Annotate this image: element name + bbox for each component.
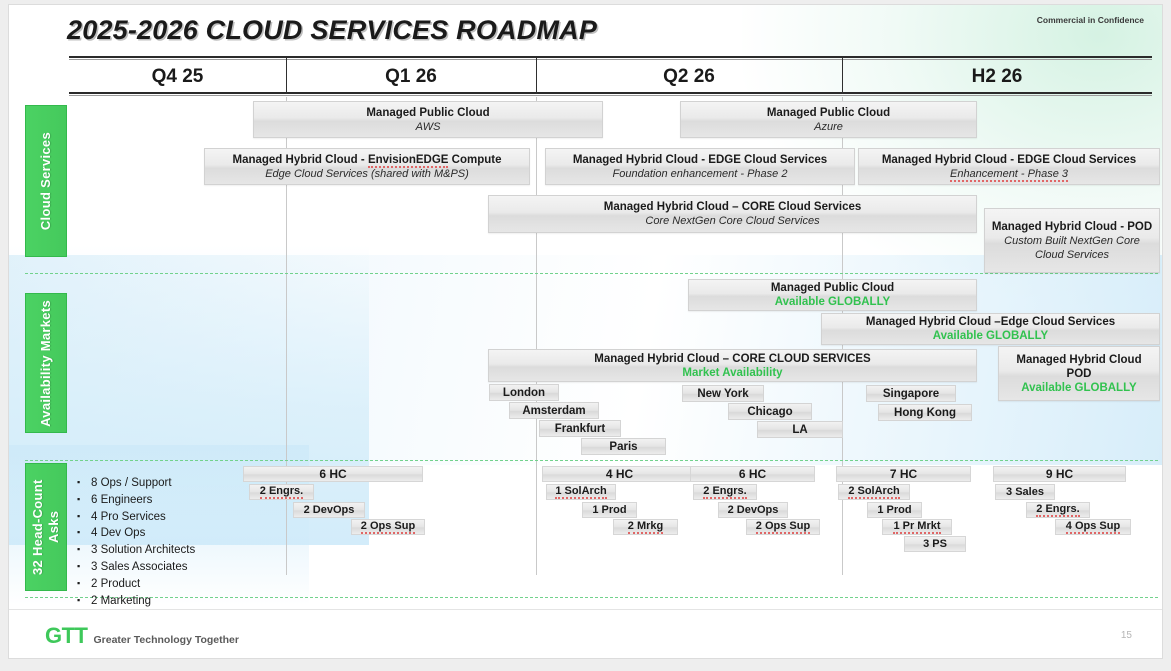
bar-subtitle-text: Enhancement - Phase 3: [950, 168, 1068, 182]
hc-role-devops-1[interactable]: 2 DevOps: [293, 502, 365, 518]
roadmap-bar-core-cloud-services[interactable]: Managed Hybrid Cloud – CORE Cloud Servic…: [488, 195, 977, 233]
market-chip-london[interactable]: London: [489, 384, 559, 401]
market-chip-hong-kong[interactable]: Hong Kong: [878, 404, 972, 421]
hc-total-group-4[interactable]: 7 HC: [836, 466, 971, 482]
hc-total-group-5[interactable]: 9 HC: [993, 466, 1126, 482]
bar-subtitle: Azure: [814, 120, 843, 134]
timeline-column-q1-26: Q1 26: [286, 63, 536, 91]
market-chip-paris[interactable]: Paris: [581, 438, 666, 455]
list-item: 4 Dev Ops: [77, 525, 195, 542]
hc-role-opssup-3[interactable]: 2 Ops Sup: [746, 519, 820, 535]
hc-total-group-3[interactable]: 6 HC: [690, 466, 815, 482]
list-item: 8 Ops / Support: [77, 475, 195, 492]
logo-mark: GTT: [45, 623, 88, 649]
swimlane-label-text: Cloud Services: [38, 132, 54, 230]
roadmap-bar-managed-hybrid-cloud-pod[interactable]: Managed Hybrid Cloud - POD Custom Built …: [984, 208, 1160, 273]
bar-status: Available GLOBALLY: [933, 329, 1048, 343]
hc-role-engrs-3[interactable]: 2 Engrs.: [693, 484, 757, 500]
header-separator-3: [842, 58, 843, 94]
swimlane-label-text: Availability Markets: [38, 300, 54, 427]
market-chip-la[interactable]: LA: [757, 421, 843, 438]
bar-title: Managed Hybrid CloudPOD: [1016, 353, 1141, 381]
bar-subtitle: Edge Cloud Services (shared with M&PS): [265, 167, 469, 181]
roadmap-bar-edge-cloud-services-phase-3[interactable]: Managed Hybrid Cloud - EDGE Cloud Servic…: [858, 148, 1160, 185]
header-rule-bottom: [69, 92, 1152, 96]
hc-role-label: 1 SolArch: [555, 485, 606, 499]
confidentiality-notice: Commercial in Confidence: [1037, 15, 1144, 25]
roadmap-bar-edge-cloud-services-phase-2[interactable]: Managed Hybrid Cloud - EDGE Cloud Servic…: [545, 148, 855, 185]
swimlane-divider-1: [25, 273, 1158, 274]
hc-role-label: 2 Engrs.: [260, 485, 303, 499]
timeline-column-q2-26: Q2 26: [536, 63, 842, 91]
hc-role-prmrkt-4[interactable]: 1 Pr Mrkt: [882, 519, 952, 535]
bar-title: Managed Hybrid Cloud - EDGE Cloud Servic…: [573, 153, 827, 167]
column-gridline-2: [536, 97, 537, 575]
hc-role-sales-5[interactable]: 3 Sales: [995, 484, 1055, 500]
list-item: 6 Engineers: [77, 492, 195, 509]
bar-status: Available GLOBALLY: [1021, 381, 1136, 395]
bar-subtitle: Core NextGen Core Cloud Services: [645, 214, 819, 228]
logo-tagline: Greater Technology Together: [94, 634, 239, 646]
bar-title: Managed Hybrid Cloud –Edge Cloud Service…: [866, 315, 1115, 329]
hc-role-ps-4[interactable]: 3 PS: [904, 536, 966, 552]
hc-role-engrs-5[interactable]: 2 Engrs.: [1026, 502, 1090, 518]
hc-role-label: 2 Engrs.: [703, 485, 746, 499]
roadmap-bar-managed-public-cloud-azure[interactable]: Managed Public Cloud Azure: [680, 101, 977, 138]
market-chip-new-york[interactable]: New York: [682, 385, 764, 402]
bar-title: Managed Hybrid Cloud - EnvisionEDGE Comp…: [232, 153, 501, 167]
roadmap-slide: 2025-2026 CLOUD SERVICES ROADMAP Commerc…: [8, 4, 1163, 659]
swimlane-label-availability-markets: Availability Markets: [25, 293, 67, 433]
footer-divider: [9, 609, 1163, 610]
bar-subtitle: Custom Built NextGen Core Cloud Services: [991, 234, 1153, 262]
hc-role-label: 2 SolArch: [848, 485, 899, 499]
list-item: 4 Pro Services: [77, 509, 195, 526]
hc-role-label: 2 Engrs.: [1036, 503, 1079, 517]
bar-title: Managed Public Cloud: [366, 106, 489, 120]
hc-role-label: 4 Ops Sup: [1066, 520, 1120, 534]
bar-title: Managed Hybrid Cloud - POD: [992, 220, 1152, 234]
market-chip-chicago[interactable]: Chicago: [728, 403, 812, 420]
list-item: 2 Product: [77, 576, 195, 593]
hc-role-devops-3[interactable]: 2 DevOps: [718, 502, 788, 518]
availability-bar-core-cloud-services[interactable]: Managed Hybrid Cloud – CORE CLOUD SERVIC…: [488, 349, 977, 382]
hc-total-group-1[interactable]: 6 HC: [243, 466, 423, 482]
availability-bar-edge-cloud-services[interactable]: Managed Hybrid Cloud –Edge Cloud Service…: [821, 313, 1160, 345]
page-number: 15: [1121, 630, 1132, 641]
hc-role-opssup-5[interactable]: 4 Ops Sup: [1055, 519, 1131, 535]
bar-title: Managed Hybrid Cloud – CORE Cloud Servic…: [604, 200, 862, 214]
list-item: 2 Marketing: [77, 593, 195, 610]
swimlane-label-head-count-asks: 32 Head-Count Asks: [25, 463, 67, 591]
timeline-column-q4-25: Q4 25: [69, 63, 286, 91]
hc-role-solarch-2[interactable]: 1 SolArch: [546, 484, 616, 500]
hc-total-group-2[interactable]: 4 HC: [542, 466, 697, 482]
market-chip-amsterdam[interactable]: Amsterdam: [509, 402, 599, 419]
list-item: 3 Sales Associates: [77, 559, 195, 576]
timeline-column-h2-26: H2 26: [842, 63, 1152, 91]
bar-title: Managed Hybrid Cloud – CORE CLOUD SERVIC…: [594, 352, 870, 366]
swimlane-label-text: 32 Head-Count Asks: [30, 464, 62, 590]
header-rule-top: [69, 56, 1152, 60]
hc-role-engrs-1[interactable]: 2 Engrs.: [249, 484, 314, 500]
hc-role-label: 1 Pr Mrkt: [893, 520, 940, 534]
bar-subtitle: Foundation enhancement - Phase 2: [613, 167, 788, 181]
roadmap-bar-managed-public-cloud-aws[interactable]: Managed Public Cloud AWS: [253, 101, 603, 138]
roadmap-bar-envisionedge-compute[interactable]: Managed Hybrid Cloud - EnvisionEDGE Comp…: [204, 148, 530, 185]
market-chip-frankfurt[interactable]: Frankfurt: [539, 420, 621, 437]
market-chip-singapore[interactable]: Singapore: [866, 385, 956, 402]
hc-role-opssup-1[interactable]: 2 Ops Sup: [351, 519, 425, 535]
hc-role-label: 2 Ops Sup: [756, 520, 810, 534]
header-separator-2: [536, 58, 537, 94]
hc-role-prod-2[interactable]: 1 Prod: [582, 502, 637, 518]
hc-role-mrkg-2[interactable]: 2 Mrkg: [613, 519, 678, 535]
bar-status: Available GLOBALLY: [775, 295, 890, 309]
bar-title: Managed Public Cloud: [771, 281, 894, 295]
hc-role-solarch-4[interactable]: 2 SolArch: [838, 484, 910, 500]
list-item: 3 Solution Architects: [77, 542, 195, 559]
swimlane-label-cloud-services: Cloud Services: [25, 105, 67, 257]
head-count-asks-list: 8 Ops / Support 6 Engineers 4 Pro Servic…: [77, 475, 195, 609]
bar-title: Managed Hybrid Cloud - EDGE Cloud Servic…: [882, 153, 1136, 167]
availability-bar-managed-public-cloud[interactable]: Managed Public Cloud Available GLOBALLY: [688, 279, 977, 311]
swimlane-divider-2: [25, 460, 1158, 461]
hc-role-label: 2 Ops Sup: [361, 520, 415, 534]
gtt-logo: GTT Greater Technology Together: [45, 623, 239, 649]
hc-role-prod-4[interactable]: 1 Prod: [867, 502, 922, 518]
availability-bar-managed-hybrid-cloud-pod[interactable]: Managed Hybrid CloudPOD Available GLOBAL…: [998, 346, 1160, 401]
bar-status: Market Availability: [682, 366, 782, 380]
bar-title: Managed Public Cloud: [767, 106, 890, 120]
hc-role-label: 2 Mrkg: [628, 520, 663, 534]
bar-subtitle: Enhancement - Phase 3: [950, 167, 1068, 181]
page-title: 2025-2026 CLOUD SERVICES ROADMAP: [67, 15, 597, 46]
bar-subtitle: AWS: [416, 120, 441, 134]
header-separator-1: [286, 58, 287, 94]
bar-title-text: Managed Hybrid Cloud - EnvisionEDGE Comp…: [232, 154, 501, 168]
